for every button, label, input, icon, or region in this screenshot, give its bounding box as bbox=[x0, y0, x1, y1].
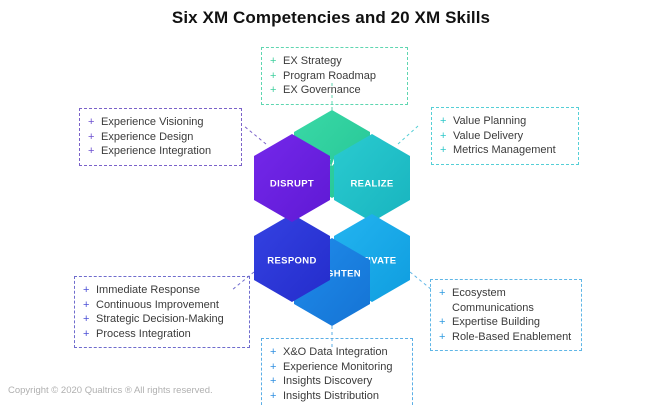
hexagon-cluster: LEAD REALIZE ACTIVATE ENLIGHTEN RESPOND bbox=[232, 104, 432, 332]
plus-icon: + bbox=[270, 374, 283, 389]
list-item: + Ecosystem bbox=[439, 286, 571, 301]
plus-icon: + bbox=[88, 144, 101, 159]
list-item: + Immediate Response bbox=[83, 283, 239, 298]
connector-disrupt bbox=[244, 126, 266, 144]
hexagon-label-realize: REALIZE bbox=[350, 179, 393, 190]
skill-label: Experience Integration bbox=[101, 144, 231, 159]
skill-list-enlighten: + X&O Data Integration + Experience Moni… bbox=[270, 345, 402, 403]
skill-list-lead: + EX Strategy + Program Roadmap + EX Gov… bbox=[270, 54, 397, 98]
list-item: + Experience Integration bbox=[88, 144, 231, 159]
list-item: + Continuous Improvement bbox=[83, 298, 239, 313]
plus-icon: + bbox=[83, 283, 96, 298]
plus-icon: + bbox=[270, 69, 283, 84]
list-item: + Metrics Management bbox=[440, 143, 568, 158]
callout-respond: + Immediate Response + Continuous Improv… bbox=[74, 276, 250, 348]
plus-icon: + bbox=[88, 115, 101, 130]
skill-label: Process Integration bbox=[96, 327, 239, 342]
plus-icon: + bbox=[440, 129, 453, 144]
plus-icon: + bbox=[83, 298, 96, 313]
callout-enlighten: + X&O Data Integration + Experience Moni… bbox=[261, 338, 413, 405]
copyright-footer: Copyright © 2020 Qualtrics ® All rights … bbox=[8, 385, 213, 396]
callout-disrupt: + Experience Visioning + Experience Desi… bbox=[79, 108, 242, 166]
plus-icon: + bbox=[83, 312, 96, 327]
plus-icon: + bbox=[439, 315, 452, 330]
list-item: + EX Governance bbox=[270, 83, 397, 98]
skill-label: Metrics Management bbox=[453, 143, 568, 158]
skill-label: Value Delivery bbox=[453, 129, 568, 144]
skill-label: X&O Data Integration bbox=[283, 345, 402, 360]
skill-list-activate: + Ecosystem + Communications + Expertise… bbox=[439, 286, 571, 344]
callout-realize: + Value Planning + Value Delivery + Metr… bbox=[431, 107, 579, 165]
plus-icon: + bbox=[439, 286, 452, 301]
callout-activate: + Ecosystem + Communications + Expertise… bbox=[430, 279, 582, 351]
list-item: + Expertise Building bbox=[439, 315, 571, 330]
skill-label: Strategic Decision-Making bbox=[96, 312, 239, 327]
skill-label: EX Governance bbox=[283, 83, 397, 98]
skill-label: Insights Distribution bbox=[283, 389, 402, 404]
skill-list-respond: + Immediate Response + Continuous Improv… bbox=[83, 283, 239, 341]
list-item: + X&O Data Integration bbox=[270, 345, 402, 360]
skill-label: Role-Based Enablement bbox=[452, 330, 571, 345]
plus-icon: + bbox=[83, 327, 96, 342]
skill-label: Communications bbox=[452, 301, 571, 316]
plus-icon: + bbox=[270, 389, 283, 404]
plus-icon: + bbox=[88, 130, 101, 145]
plus-icon: + bbox=[270, 54, 283, 69]
skill-label: Value Planning bbox=[453, 114, 568, 129]
list-item: + Experience Visioning bbox=[88, 115, 231, 130]
list-item: + EX Strategy bbox=[270, 54, 397, 69]
skill-label: Experience Design bbox=[101, 130, 231, 145]
hexagon-label-respond: RESPOND bbox=[267, 256, 316, 267]
skill-label: Continuous Improvement bbox=[96, 298, 239, 313]
plus-icon: + bbox=[440, 143, 453, 158]
plus-icon: + bbox=[440, 114, 453, 129]
page-title: Six XM Competencies and 20 XM Skills bbox=[0, 8, 662, 28]
list-item: + Experience Monitoring bbox=[270, 360, 402, 375]
plus-icon: + bbox=[270, 360, 283, 375]
list-item: + Experience Design bbox=[88, 130, 231, 145]
callout-lead: + EX Strategy + Program Roadmap + EX Gov… bbox=[261, 47, 408, 105]
list-item: + Process Integration bbox=[83, 327, 239, 342]
connector-activate bbox=[410, 272, 432, 290]
list-item: + Role-Based Enablement bbox=[439, 330, 571, 345]
list-item: + Program Roadmap bbox=[270, 69, 397, 84]
skill-label: Insights Discovery bbox=[283, 374, 402, 389]
skill-label: EX Strategy bbox=[283, 54, 397, 69]
plus-icon: + bbox=[439, 330, 452, 345]
hexagon-label-disrupt: DISRUPT bbox=[270, 179, 314, 190]
diagram-canvas: Six XM Competencies and 20 XM Skills bbox=[0, 0, 662, 405]
list-item: + Insights Discovery bbox=[270, 374, 402, 389]
skill-list-disrupt: + Experience Visioning + Experience Desi… bbox=[88, 115, 231, 159]
list-item: + Value Delivery bbox=[440, 129, 568, 144]
plus-icon: + bbox=[270, 345, 283, 360]
skill-label: Ecosystem bbox=[452, 286, 571, 301]
skill-label: Expertise Building bbox=[452, 315, 571, 330]
list-item: + Insights Distribution bbox=[270, 389, 402, 404]
list-item: + Value Planning bbox=[440, 114, 568, 129]
plus-icon: + bbox=[270, 83, 283, 98]
skill-list-realize: + Value Planning + Value Delivery + Metr… bbox=[440, 114, 568, 158]
list-item-continuation: + Communications bbox=[439, 301, 571, 316]
skill-label: Immediate Response bbox=[96, 283, 239, 298]
connector-realize bbox=[398, 126, 418, 144]
skill-label: Program Roadmap bbox=[283, 69, 397, 84]
skill-label: Experience Monitoring bbox=[283, 360, 402, 375]
list-item: + Strategic Decision-Making bbox=[83, 312, 239, 327]
skill-label: Experience Visioning bbox=[101, 115, 231, 130]
